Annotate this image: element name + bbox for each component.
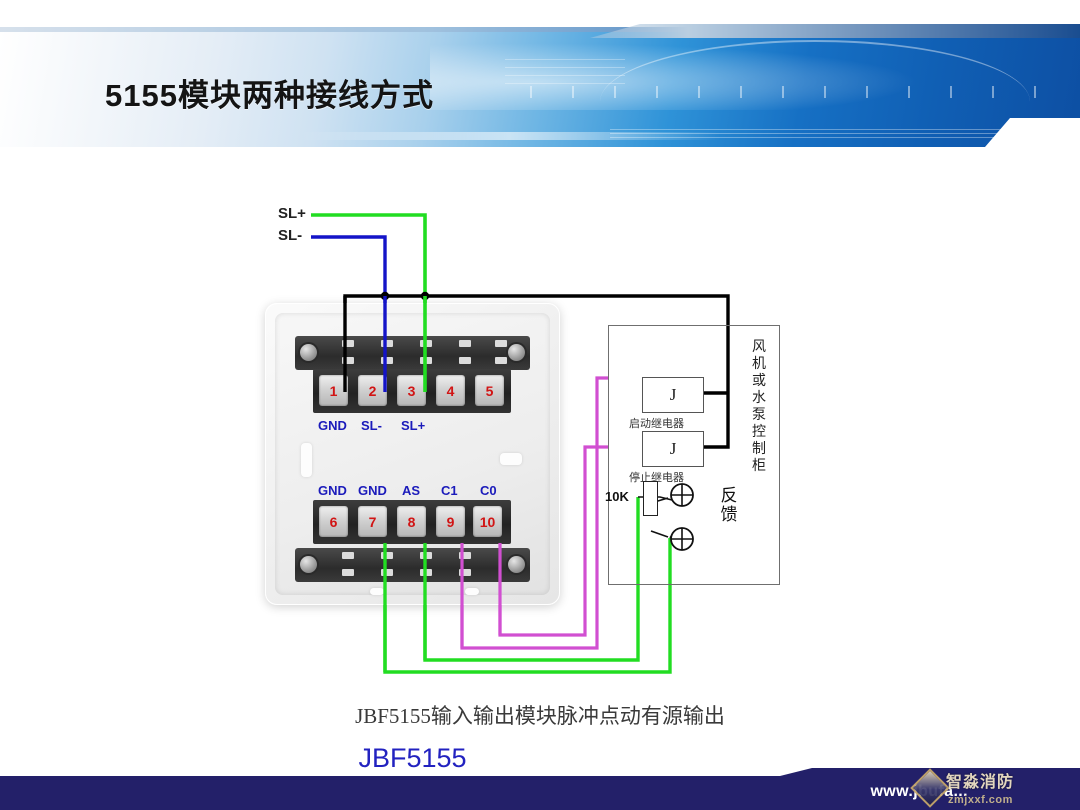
rail-notch xyxy=(459,357,471,364)
top-rail-screw-right xyxy=(508,344,525,361)
feedback-resistor xyxy=(643,481,658,516)
watermark-brand-en: zmjxxf.com xyxy=(948,794,1013,806)
module-slot-left xyxy=(301,443,312,477)
terminal-7[interactable]: 7 xyxy=(358,506,387,537)
junction-dot-green xyxy=(421,292,429,300)
terminal-9[interactable]: 9 xyxy=(436,506,465,537)
bottom-rail-screw-left xyxy=(300,556,317,573)
start-relay: J xyxy=(642,377,704,413)
rail-notch xyxy=(381,569,393,576)
terminal-3-label: SL+ xyxy=(401,418,425,433)
cabinet-title: 风机或水泵控制柜 xyxy=(749,338,769,474)
terminal-3[interactable]: 3 xyxy=(397,375,426,406)
bus-label-sl-plus: SL+ xyxy=(278,205,306,222)
start-relay-label: 启动继电器 xyxy=(629,415,684,431)
watermark-brand-cn: 智淼消防 xyxy=(946,768,1014,792)
feedback-resistor-label: 10K xyxy=(605,489,629,504)
watermark: 智淼消防 zmjxxf.com xyxy=(914,768,1072,808)
rail-notch xyxy=(459,569,471,576)
module-slot-right xyxy=(500,453,522,465)
terminal-4[interactable]: 4 xyxy=(436,375,465,406)
terminal-6[interactable]: 6 xyxy=(319,506,348,537)
bottom-terminal-block: 6 7 8 9 10 xyxy=(313,500,511,544)
rail-notch xyxy=(420,357,432,364)
junction-dot-blue xyxy=(381,292,389,300)
slide-stage: 5155模块两种接线方式 xyxy=(0,0,1080,810)
top-rail-screw-left xyxy=(300,344,317,361)
jbf5155-module: 1 2 3 4 5 GND SL- SL+ JBF5155 GND GND AS… xyxy=(265,303,560,605)
module-name: JBF5155 xyxy=(265,743,560,774)
rail-notch xyxy=(342,357,354,364)
top-rail xyxy=(295,336,530,370)
module-tab-left xyxy=(370,588,384,595)
rail-notch xyxy=(381,340,393,347)
rail-notch xyxy=(420,569,432,576)
terminal-2-label: SL- xyxy=(361,418,382,433)
rail-notch xyxy=(342,552,354,559)
terminal-10-label: C0 xyxy=(480,483,497,498)
rail-notch xyxy=(459,340,471,347)
rail-notch xyxy=(495,340,507,347)
bottom-rail xyxy=(295,548,530,582)
rail-notch xyxy=(420,340,432,347)
rail-notch xyxy=(381,357,393,364)
terminal-5[interactable]: 5 xyxy=(475,375,504,406)
rail-notch xyxy=(342,569,354,576)
rail-notch xyxy=(459,552,471,559)
rail-notch xyxy=(420,552,432,559)
control-cabinet: J 启动继电器 J 停止继电器 风机或水泵控制柜 10K 反馈 xyxy=(608,325,780,585)
start-relay-symbol: J xyxy=(670,385,677,405)
wiring-diagram: SL+ SL- xyxy=(0,0,1080,810)
bottom-rail-screw-right xyxy=(508,556,525,573)
rail-notch xyxy=(495,357,507,364)
terminal-1[interactable]: 1 xyxy=(319,375,348,406)
bus-label-sl-minus: SL- xyxy=(278,227,302,244)
stop-relay: J xyxy=(642,431,704,467)
terminal-7-label: GND xyxy=(358,483,387,498)
terminal-8-label: AS xyxy=(402,483,420,498)
terminal-9-label: C1 xyxy=(441,483,458,498)
stop-relay-symbol: J xyxy=(670,439,677,459)
terminal-8[interactable]: 8 xyxy=(397,506,426,537)
top-terminal-block: 1 2 3 4 5 xyxy=(313,369,511,413)
terminal-2[interactable]: 2 xyxy=(358,375,387,406)
rail-notch xyxy=(342,340,354,347)
terminal-1-label: GND xyxy=(318,418,347,433)
module-tab-right xyxy=(465,588,479,595)
watermark-diamond-icon xyxy=(910,768,950,808)
rail-notch xyxy=(381,552,393,559)
terminal-6-label: GND xyxy=(318,483,347,498)
feedback-label: 反馈 xyxy=(719,486,739,524)
diagram-caption: JBF5155输入输出模块脉冲点动有源输出 xyxy=(0,700,1080,730)
terminal-10[interactable]: 10 xyxy=(473,506,502,537)
